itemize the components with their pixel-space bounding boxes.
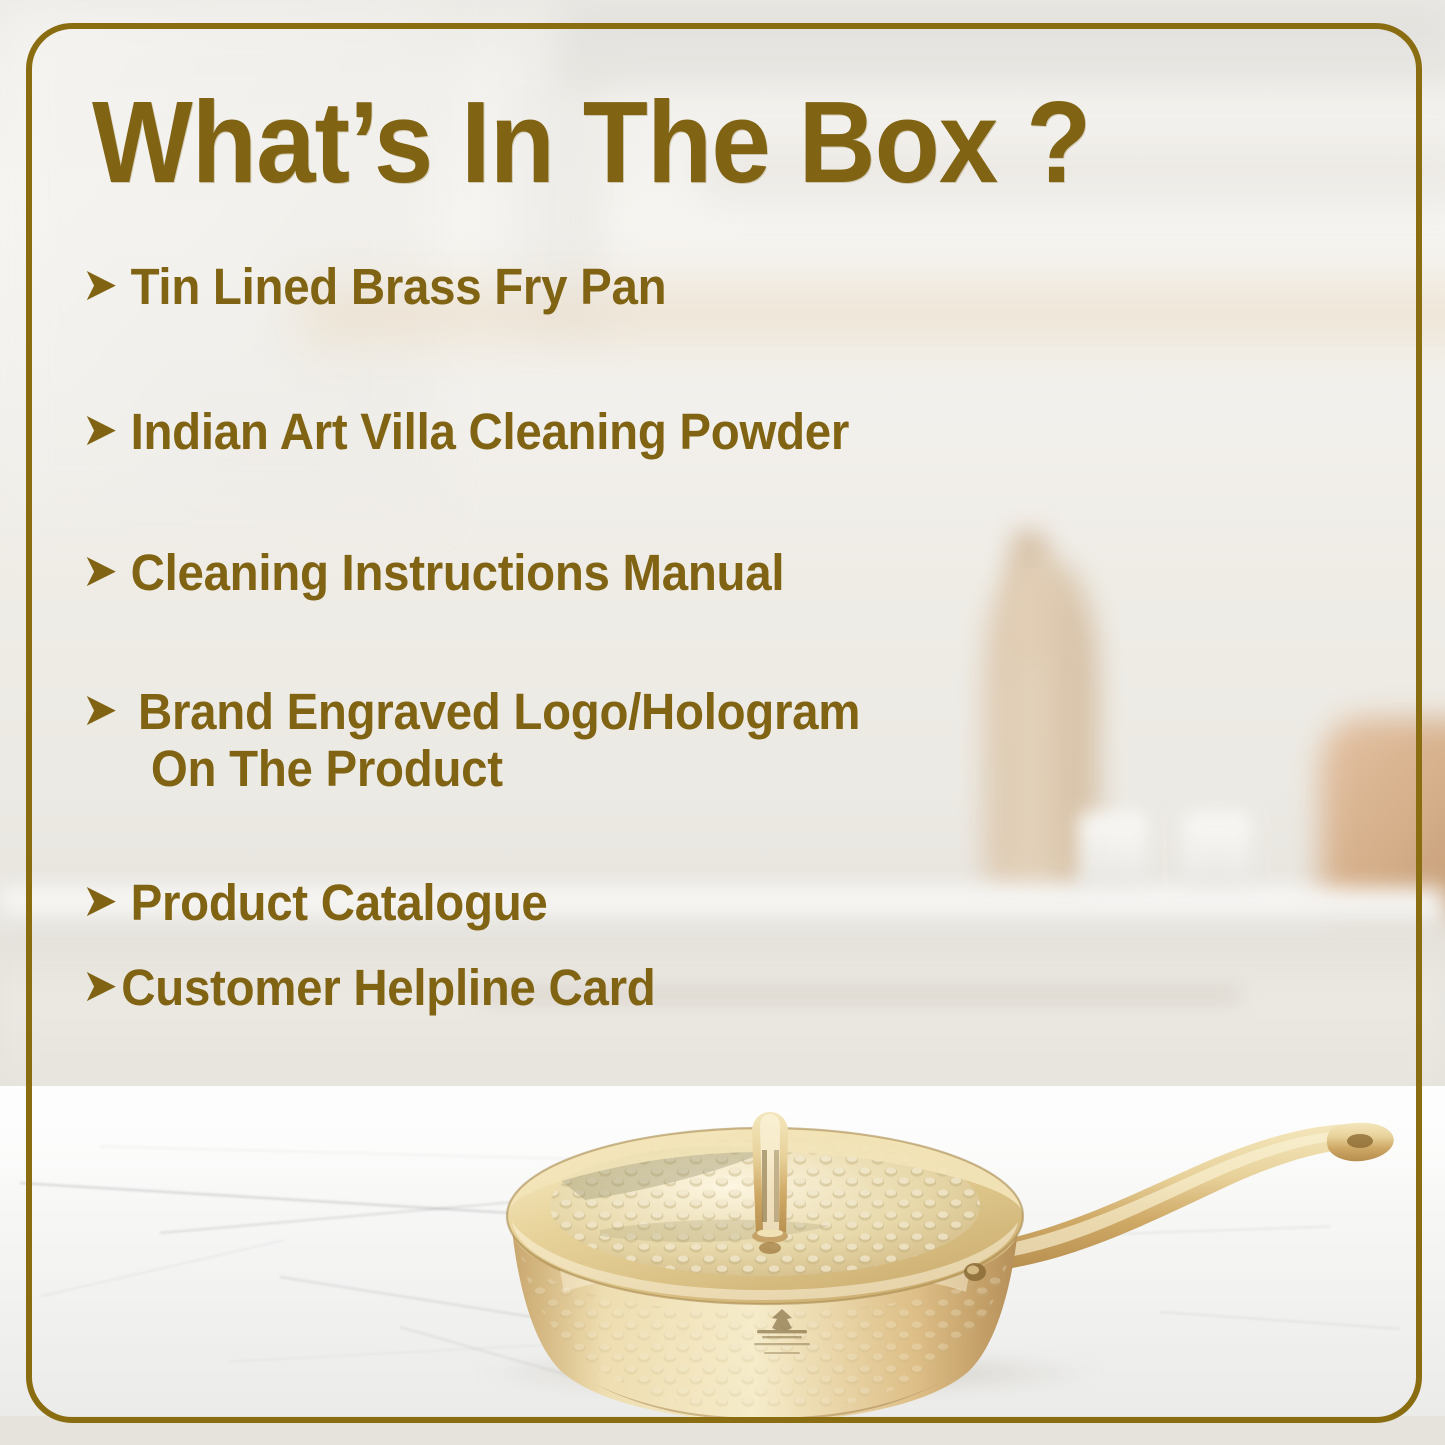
box-contents-list: ➤ Tin Lined Brass Fry Pan ➤ Indian Art V…	[82, 258, 1082, 1016]
whats-in-the-box-card: What’s In The Box ? ➤ Tin Lined Brass Fr…	[0, 0, 1445, 1445]
arrowhead-bullet-icon: ➤	[82, 874, 118, 927]
list-item: ➤ Cleaning Instructions Manual	[82, 544, 1012, 601]
list-item-label: Brand Engraved Logo/Hologram On The Prod…	[138, 683, 860, 797]
card-content: What’s In The Box ? ➤ Tin Lined Brass Fr…	[0, 0, 1445, 1445]
arrowhead-bullet-icon: ➤	[82, 258, 118, 311]
list-item-label: Cleaning Instructions Manual	[131, 544, 785, 601]
list-item: ➤ Indian Art Villa Cleaning Powder	[82, 403, 1012, 460]
list-item-label: Product Catalogue	[131, 874, 548, 931]
list-item: ➤ Tin Lined Brass Fry Pan	[82, 258, 1012, 315]
list-item-label: Customer Helpline Card	[121, 959, 655, 1016]
list-item: ➤ Brand Engraved Logo/Hologram On The Pr…	[82, 683, 1012, 797]
list-item: ➤ Product Catalogue	[82, 874, 1012, 931]
arrowhead-bullet-icon: ➤	[82, 959, 118, 1012]
arrowhead-bullet-icon: ➤	[82, 683, 118, 736]
arrowhead-bullet-icon: ➤	[82, 403, 118, 456]
list-item-label: Tin Lined Brass Fry Pan	[131, 258, 667, 315]
page-title: What’s In The Box ?	[92, 84, 1090, 200]
list-item: ➤ Customer Helpline Card	[82, 959, 1012, 1016]
list-item-label: Indian Art Villa Cleaning Powder	[131, 403, 849, 460]
arrowhead-bullet-icon: ➤	[82, 544, 118, 597]
